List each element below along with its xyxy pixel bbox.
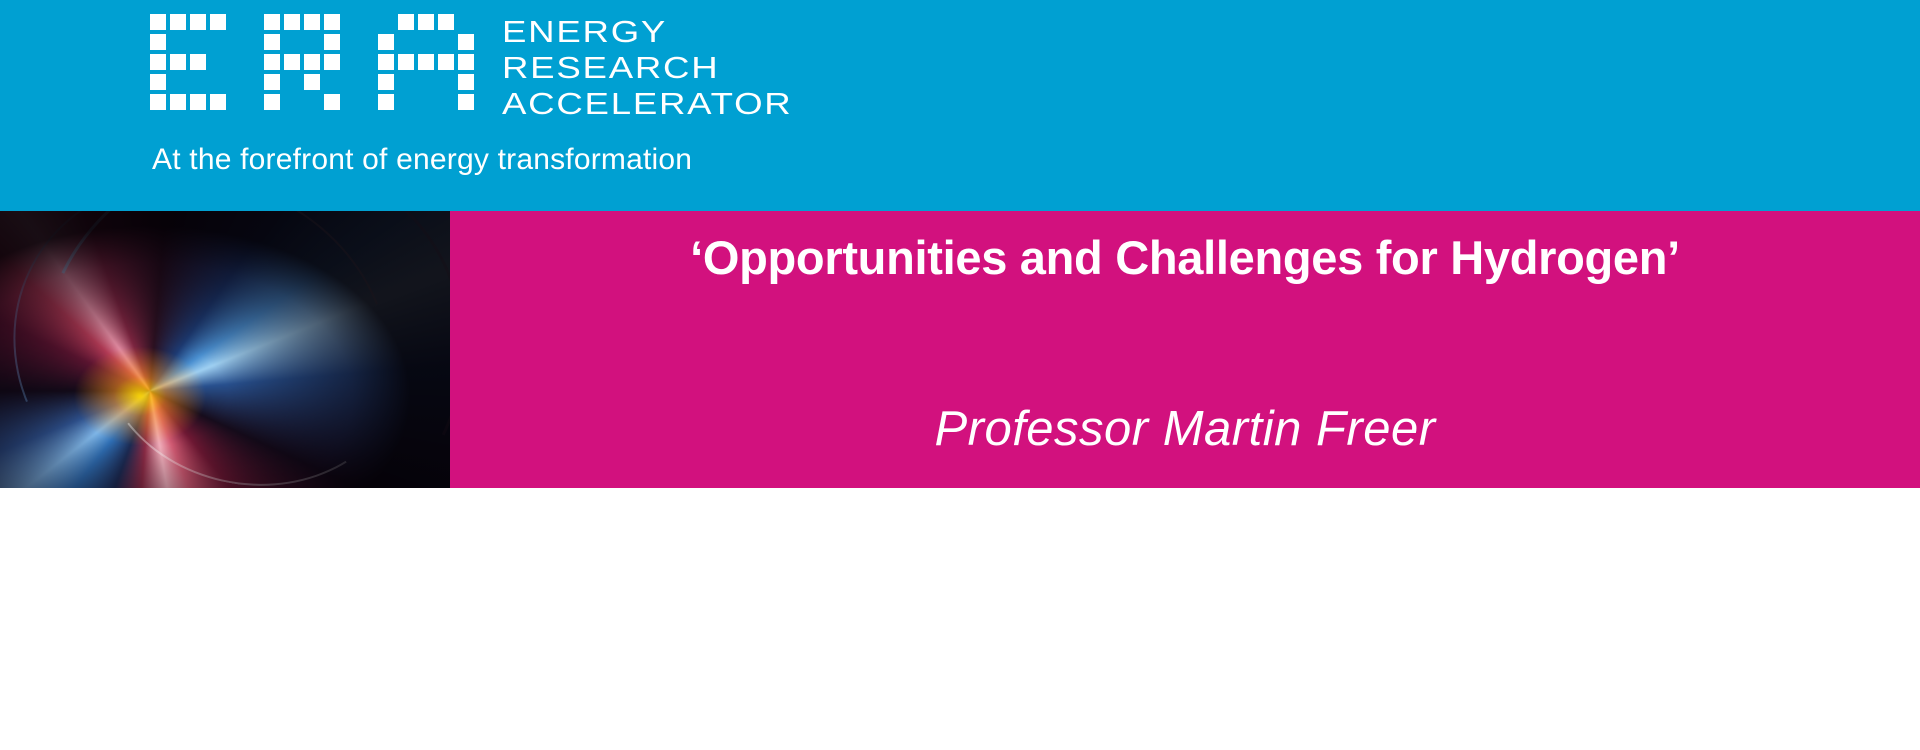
era-word-accelerator: ACCELERATOR bbox=[502, 88, 793, 120]
partner-footer: Delivered by MIDLANDS INNOVATION Funded … bbox=[0, 488, 1920, 750]
swirl-vignette bbox=[0, 211, 450, 488]
speaker-name: Professor Martin Freer bbox=[530, 401, 1840, 457]
presentation-slide: ENERGY RESEARCH ACCELERATOR At the foref… bbox=[0, 0, 1920, 750]
header-band: ENERGY RESEARCH ACCELERATOR At the foref… bbox=[0, 0, 1920, 211]
era-word-research: RESEARCH bbox=[502, 52, 719, 84]
era-logo: ENERGY RESEARCH ACCELERATOR bbox=[150, 14, 890, 124]
era-wordmark: ENERGY RESEARCH ACCELERATOR bbox=[502, 16, 902, 122]
banner-image bbox=[0, 211, 450, 488]
talk-title: ‘Opportunities and Challenges for Hydrog… bbox=[530, 229, 1840, 286]
era-word-energy: ENERGY bbox=[502, 16, 667, 48]
banner-band: ‘Opportunities and Challenges for Hydrog… bbox=[0, 211, 1920, 488]
title-panel: ‘Opportunities and Challenges for Hydrog… bbox=[450, 211, 1920, 488]
header-tagline: At the forefront of energy transformatio… bbox=[152, 143, 692, 177]
era-blocks-mark-icon bbox=[150, 14, 480, 122]
